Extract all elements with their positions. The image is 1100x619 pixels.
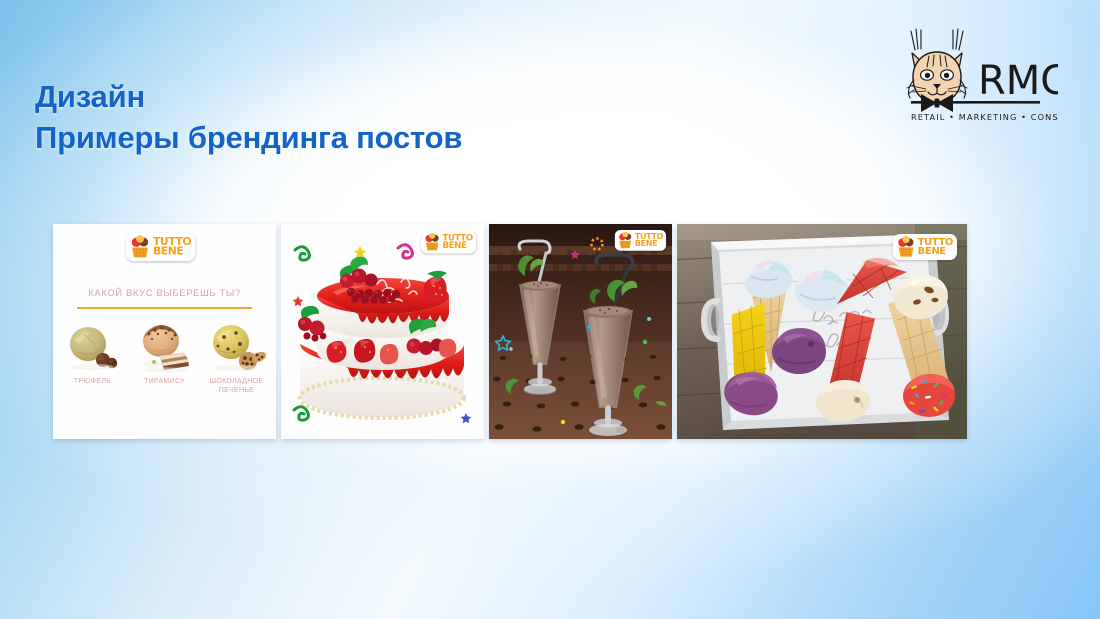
flavour-label: ТИРАМИСУ [144,378,185,387]
post-examples-strip: TUTTO BENE КАКОЙ ВКУС ВЫБЕРЕШЬ ТЫ? [53,224,997,439]
flavour-label: ТРЮФЕЛЬ [74,378,111,387]
lynx-head-icon [907,29,967,103]
ice-cream-cone-icon [617,232,633,250]
badge-line-2: BENE [635,240,663,247]
slide-header: Дизайн Примеры брендинга постов [0,0,1100,150]
berry-cake-photo [281,224,484,439]
ice-cream-cone-icon [129,235,151,259]
milkshake-photo [489,224,672,439]
tutto-bene-badge: TUTTO BENE [615,230,666,251]
tutto-bene-wordmark: TUTTO BENE [442,234,472,250]
tutto-bene-wordmark: TUTTO BENE [153,237,191,257]
tutto-bene-wordmark: TUTTO BENE [635,233,663,248]
tutto-bene-badge: TUTTO BENE [421,231,476,253]
post-card-milkshakes[interactable]: TUTTO BENE [489,224,672,439]
ice-cream-cone-icon [896,236,916,258]
post-card-berry-cake[interactable]: TUTTO BENE [281,224,484,439]
flavour-option-truffle[interactable]: ТРЮФЕЛЬ [57,320,128,396]
truffle-scoop-icon [62,320,124,374]
poll-question: КАКОЙ ВКУС ВЫБЕРЕШЬ ТЫ? [53,288,276,299]
flavour-option-tiramisu[interactable]: ТИРАМИСУ [129,320,200,396]
flavour-options: ТРЮФЕЛЬ [57,320,272,396]
flavour-option-cookie[interactable]: ШОКОЛАДНОЕ ПЕЧЕНЬЕ [201,320,272,396]
page-title: Дизайн Примеры брендинга постов [35,36,462,200]
tutto-bene-wordmark: TUTTO BENE [918,238,953,256]
ice-cream-cone-icon [423,233,440,252]
badge-line-2: BENE [442,242,472,250]
tiramisu-scoop-icon [134,320,196,374]
post-card-cone-tray[interactable]: TUTTO BENE [677,224,967,439]
post-card-flavour-poll[interactable]: TUTTO BENE КАКОЙ ВКУС ВЫБЕРЕШЬ ТЫ? [53,224,276,439]
flavour-label: ШОКОЛАДНОЕ ПЕЧЕНЬЕ [210,378,264,396]
page-title-line-2: Примеры брендинга постов [35,118,462,159]
tutto-bene-badge: TUTTO BENE [893,234,957,260]
rmc-tagline: RETAIL • MARKETING • CONSULTING [911,112,1058,122]
badge-line-2: BENE [153,247,191,257]
rmc-initials: RMC [978,58,1058,104]
cookie-scoop-icon [206,320,268,374]
page-title-line-1: Дизайн [35,79,145,114]
badge-line-2: BENE [918,247,953,256]
tutto-bene-badge: TUTTO BENE [126,233,195,261]
poll-divider [77,307,252,309]
rmc-logo: RMC RETAIL • MARKETING • CONSULTING [893,22,1058,127]
